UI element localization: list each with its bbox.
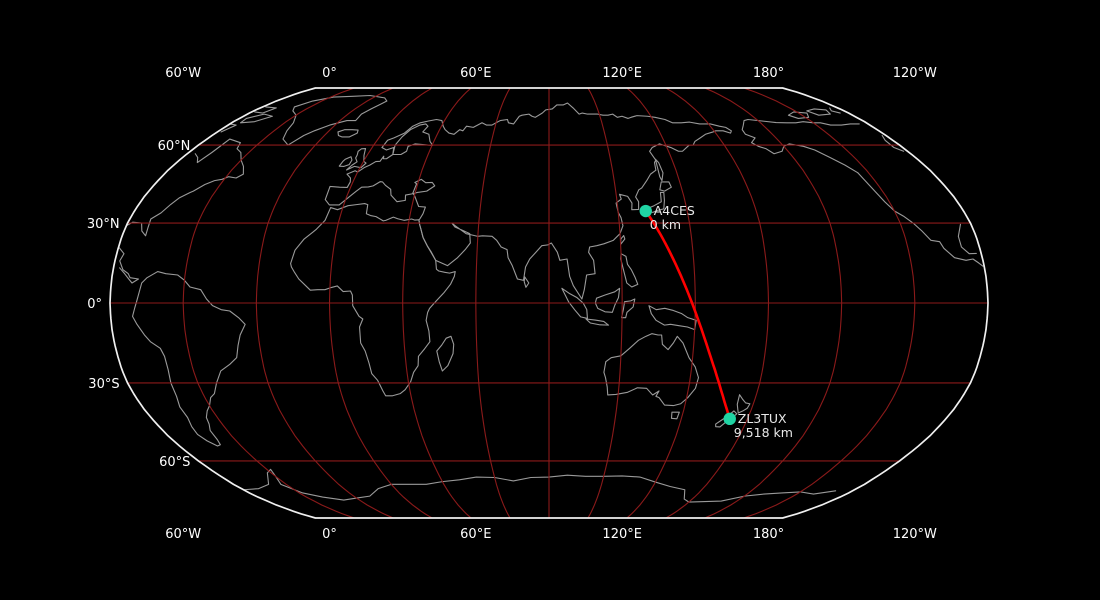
lon-tick-bottom: 60°W — [165, 527, 201, 542]
lon-tick-bottom: 180° — [753, 527, 784, 542]
lon-tick-top: 120°E — [602, 66, 642, 81]
robinson-projection-map[interactable]: A4CES0 kmZL3TUX9,518 km 0°0°60°E60°E120°… — [0, 0, 1100, 600]
lon-tick-top: 60°W — [165, 66, 201, 81]
station-dot[interactable] — [724, 413, 736, 425]
lat-tick-left: 60°N — [158, 139, 191, 154]
lat-tick-left: 0° — [87, 297, 102, 312]
lon-tick-bottom: 120°W — [893, 527, 937, 542]
lon-tick-bottom: 120°E — [602, 527, 642, 542]
lon-tick-top: 0° — [322, 66, 337, 81]
lon-tick-bottom: 60°E — [460, 527, 491, 542]
lat-tick-left: 30°N — [87, 217, 120, 232]
lon-tick-top: 120°W — [893, 66, 937, 81]
station-distance-label: 0 km — [650, 217, 681, 232]
station-distance-label: 9,518 km — [734, 425, 793, 440]
lon-tick-top: 60°E — [460, 66, 491, 81]
station-marker[interactable]: ZL3TUX9,518 km — [724, 411, 793, 440]
station-callsign-label: A4CES — [654, 203, 695, 218]
lat-tick-left: 30°S — [88, 377, 119, 392]
lon-tick-bottom: 0° — [322, 527, 337, 542]
lon-tick-top: 180° — [753, 66, 784, 81]
lat-tick-left: 60°S — [159, 455, 190, 470]
station-callsign-label: ZL3TUX — [738, 411, 787, 426]
map-ocean-background — [0, 0, 1100, 600]
figure-canvas: Robinson Projection PM64 to RE66HO (152°… — [0, 0, 1100, 600]
station-dot[interactable] — [640, 205, 652, 217]
